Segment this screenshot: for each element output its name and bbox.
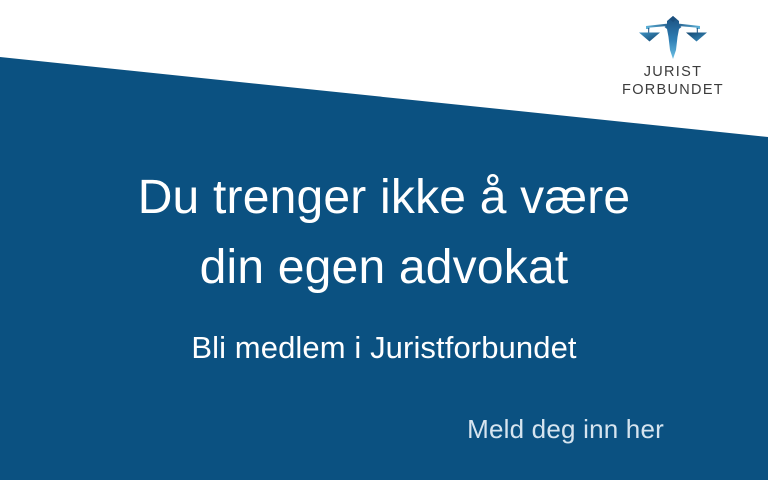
scales-of-justice-icon xyxy=(636,14,710,60)
logo-wordmark-line-1: JURIST xyxy=(622,64,724,82)
subheading: Bli medlem i Juristforbundet xyxy=(0,327,768,369)
headline-line-2: din egen advokat xyxy=(0,233,768,303)
logo-wordmark: JURIST FORBUNDET xyxy=(622,64,724,99)
signup-cta-label[interactable]: Meld deg inn her xyxy=(467,414,664,444)
advertisement-banner[interactable]: JURIST FORBUNDET Du trenger ikke å være … xyxy=(0,0,768,480)
signup-cta[interactable]: Meld deg inn her xyxy=(467,411,664,447)
headline-line-1: Du trenger ikke å være xyxy=(0,163,768,233)
juristforbundet-logo[interactable]: JURIST FORBUNDET xyxy=(614,14,732,99)
headline: Du trenger ikke å være din egen advokat xyxy=(0,163,768,303)
subheading-text: Bli medlem i Juristforbundet xyxy=(191,330,576,365)
logo-wordmark-line-2: FORBUNDET xyxy=(622,82,724,100)
